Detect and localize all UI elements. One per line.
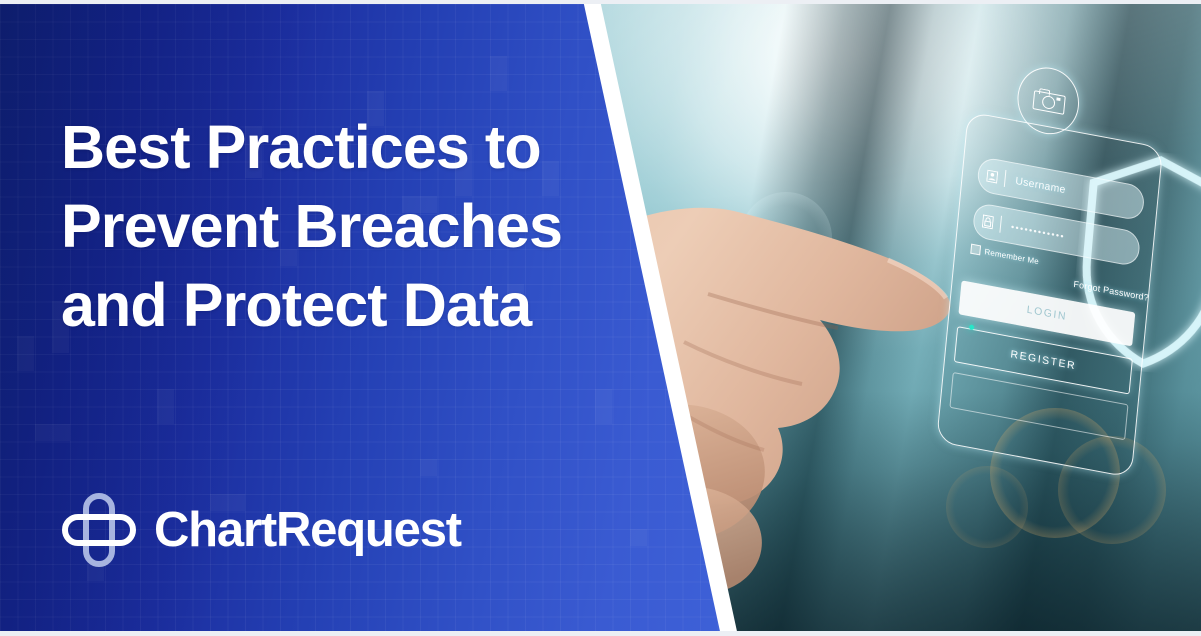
user-icon [978,168,1005,185]
brand-name: ChartRequest [154,502,461,558]
bottom-edge-strip [0,631,1201,636]
username-value: Username [1005,173,1066,196]
page-title: Best Practices to Prevent Breaches and P… [61,108,621,345]
holographic-login-panel: Username •••••••••••• Remember Me Forgot… [910,26,1183,546]
lock-icon [974,213,1001,231]
interlocking-cross-icon [61,492,137,568]
top-edge-strip [0,0,1201,4]
checkbox-box [970,244,981,256]
password-value: •••••••••••• [1001,219,1066,241]
brand-logo[interactable]: ChartRequest [61,492,461,568]
camera-icon [1032,87,1064,114]
blog-header-banner: Username •••••••••••• Remember Me Forgot… [0,0,1201,636]
